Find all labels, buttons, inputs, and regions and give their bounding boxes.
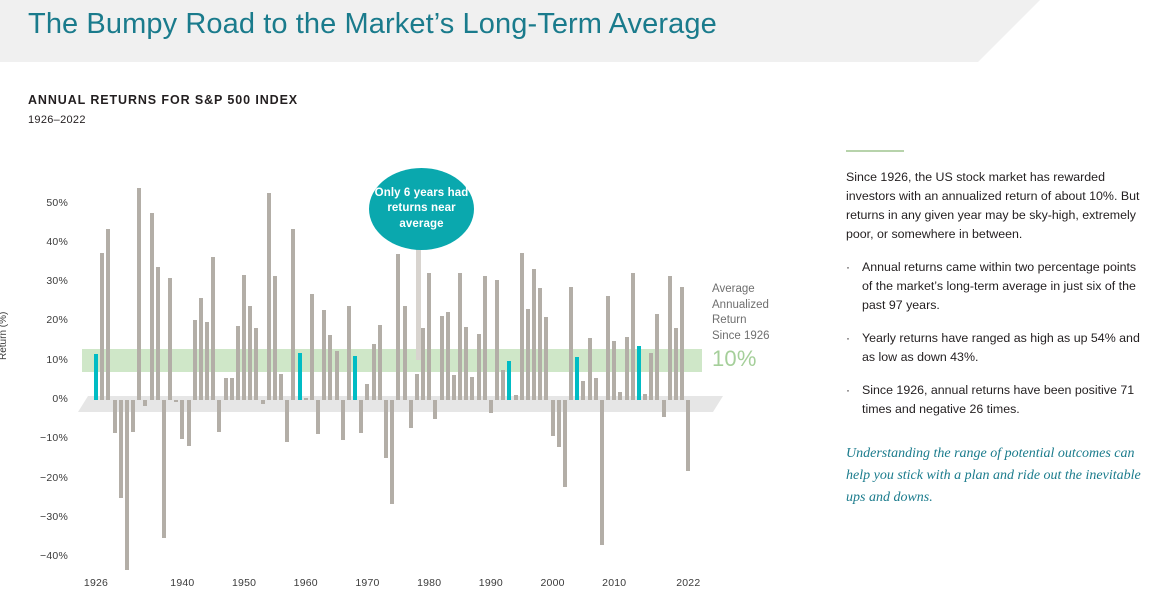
bar <box>205 322 209 400</box>
y-axis-tick: 10% <box>22 354 68 366</box>
bar <box>328 335 332 400</box>
bar <box>458 273 462 400</box>
x-axis-tick: 1980 <box>404 577 454 589</box>
average-return-legend-label: Average Annualized Return Since 1926 <box>712 282 812 344</box>
bar <box>452 375 456 400</box>
side-panel-intro: Since 1926, the US stock market has rewa… <box>846 168 1141 243</box>
bar <box>520 253 524 400</box>
bar <box>310 294 314 400</box>
bar <box>372 344 376 400</box>
bar <box>625 337 629 400</box>
y-axis-tick: 20% <box>22 314 68 326</box>
returns-bar-chart: Return (%) 50%40%30%20%10%0%−10%−20%−30%… <box>0 0 820 616</box>
bar <box>279 374 283 400</box>
bar <box>581 381 585 400</box>
y-axis-tick: 0% <box>22 393 68 405</box>
bar <box>199 298 203 400</box>
y-axis-tick: −20% <box>22 472 68 484</box>
bar <box>631 273 635 400</box>
bar <box>384 400 388 458</box>
bar <box>230 378 234 400</box>
bar <box>532 269 536 400</box>
bar <box>643 394 647 400</box>
side-panel-bullet-text: Yearly returns have ranged as high as up… <box>862 329 1141 366</box>
bar <box>674 328 678 400</box>
bar <box>131 400 135 432</box>
average-return-legend-value: 10% <box>712 346 812 372</box>
bar <box>316 400 320 434</box>
bar <box>396 254 400 400</box>
bar <box>143 400 147 406</box>
y-axis-tick: −40% <box>22 550 68 562</box>
x-axis-tick: 1960 <box>281 577 331 589</box>
bar <box>125 400 129 570</box>
x-axis-tick: 1940 <box>157 577 207 589</box>
side-panel-rule <box>846 150 904 152</box>
x-axis-tick: 1950 <box>219 577 269 589</box>
bar <box>538 288 542 400</box>
bar <box>187 400 191 446</box>
x-axis-tick: 2010 <box>589 577 639 589</box>
bar <box>347 306 351 400</box>
bar <box>341 400 345 440</box>
side-panel-bullet: ·Since 1926, annual returns have been po… <box>846 381 1141 418</box>
y-axis-tick: −30% <box>22 511 68 523</box>
bullet-marker-icon: · <box>846 258 862 314</box>
bar <box>618 392 622 400</box>
side-panel-bullet-text: Annual returns came within two percentag… <box>862 258 1141 314</box>
bar <box>415 374 419 400</box>
bar <box>94 354 98 400</box>
y-axis-tick: 40% <box>22 236 68 248</box>
bar <box>217 400 221 432</box>
bar <box>649 353 653 400</box>
side-panel-quote: Understanding the range of potential out… <box>846 443 1141 510</box>
bar <box>495 280 499 400</box>
callout-bubble: Only 6 years had returns near average <box>369 168 474 250</box>
bar <box>686 400 690 471</box>
bar <box>193 320 197 400</box>
bar <box>489 400 493 413</box>
bar <box>150 213 154 400</box>
bar <box>378 325 382 400</box>
bar <box>446 312 450 400</box>
side-panel-bullet-text: Since 1926, annual returns have been pos… <box>862 381 1141 418</box>
bullet-marker-icon: · <box>846 381 862 418</box>
bar <box>106 229 110 400</box>
side-text-panel: Since 1926, the US stock market has rewa… <box>846 150 1141 510</box>
bar <box>162 400 166 538</box>
bar <box>180 400 184 439</box>
bar <box>507 361 511 400</box>
side-panel-bullet-list: ·Annual returns came within two percenta… <box>846 258 1141 418</box>
bar <box>285 400 289 442</box>
bar <box>409 400 413 428</box>
bar <box>637 346 641 400</box>
bar <box>606 296 610 400</box>
bar <box>168 278 172 400</box>
bar <box>390 400 394 504</box>
bar <box>174 400 178 402</box>
bar <box>514 395 518 400</box>
bar <box>267 193 271 400</box>
bar <box>224 378 228 400</box>
bar <box>304 398 308 400</box>
bar <box>137 188 141 400</box>
bar <box>242 275 246 400</box>
bar <box>464 327 468 400</box>
bar <box>563 400 567 487</box>
bar <box>248 306 252 400</box>
bar <box>588 338 592 400</box>
bar <box>526 309 530 400</box>
bar <box>575 357 579 400</box>
bar <box>421 328 425 400</box>
bar <box>594 378 598 400</box>
bar <box>403 306 407 400</box>
bar <box>298 353 302 400</box>
x-axis-tick: 2022 <box>663 577 713 589</box>
x-axis-tick: 1970 <box>342 577 392 589</box>
y-axis-tick: 50% <box>22 197 68 209</box>
bar <box>261 400 265 404</box>
callout-text: Only 6 years had returns near average <box>369 186 474 232</box>
bar <box>569 287 573 400</box>
y-axis-tick: −10% <box>22 432 68 444</box>
bar <box>655 314 659 400</box>
bar <box>236 326 240 400</box>
bar <box>440 316 444 400</box>
average-return-legend: Average Annualized Return Since 1926 10% <box>712 282 812 372</box>
bar <box>113 400 117 433</box>
bar <box>483 276 487 400</box>
y-axis-label: Return (%) <box>0 312 9 360</box>
bar <box>544 317 548 400</box>
y-axis-tick: 30% <box>22 275 68 287</box>
bar <box>156 267 160 400</box>
bar <box>365 384 369 400</box>
x-axis-tick: 2000 <box>528 577 578 589</box>
bar <box>612 341 616 400</box>
callout-stem <box>416 248 421 360</box>
bar <box>335 351 339 400</box>
x-axis-tick: 1926 <box>71 577 121 589</box>
bar <box>668 276 672 400</box>
bar <box>600 400 604 545</box>
bullet-marker-icon: · <box>846 329 862 366</box>
bar <box>254 328 258 400</box>
bar <box>291 229 295 400</box>
bar <box>273 276 277 400</box>
bar <box>353 356 357 400</box>
bar <box>662 400 666 417</box>
bar <box>100 253 104 400</box>
bar <box>322 310 326 400</box>
bar <box>427 273 431 400</box>
bar <box>501 370 505 400</box>
bar <box>433 400 437 419</box>
bar <box>211 257 215 400</box>
side-panel-bullet: ·Yearly returns have ranged as high as u… <box>846 329 1141 366</box>
bar <box>551 400 555 436</box>
bar <box>470 377 474 400</box>
bar <box>477 334 481 400</box>
bar <box>119 400 123 498</box>
side-panel-bullet: ·Annual returns came within two percenta… <box>846 258 1141 314</box>
bar <box>680 287 684 400</box>
bar <box>557 400 561 447</box>
bar <box>359 400 363 433</box>
x-axis-tick: 1990 <box>466 577 516 589</box>
